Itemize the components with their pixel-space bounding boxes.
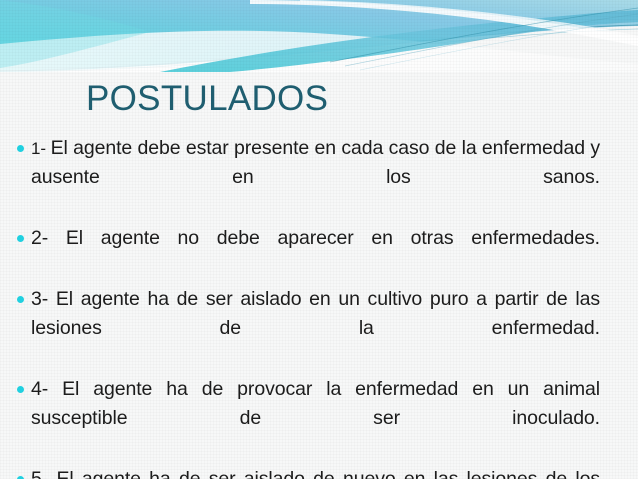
bullet-dot-icon xyxy=(17,235,24,242)
bullet-number: 3- xyxy=(31,288,56,310)
presentation-slide: POSTULADOS 1- El agente debe estar prese… xyxy=(0,0,638,479)
bullet-dot-icon xyxy=(17,386,24,393)
bullet-dot-icon xyxy=(17,145,24,152)
flow-swoosh-graphic xyxy=(0,0,638,72)
slide-title: POSTULADOS xyxy=(86,79,328,119)
bullet-text: El agente ha de provocar la enfermedad e… xyxy=(31,378,600,429)
slide-bullet-list: 1- El agente debe estar presente en cada… xyxy=(0,134,638,479)
bullet-text: El agente debe estar presente en cada ca… xyxy=(31,137,600,188)
bullet-number: 1- xyxy=(31,139,51,158)
bullet-item: 4- El agente ha de provocar la enfermeda… xyxy=(0,375,638,462)
bullet-number: 5- xyxy=(31,468,56,479)
bullet-item: 5- El agente ha de ser aislado de nuevo … xyxy=(0,465,638,479)
bullet-item: 1- El agente debe estar presente en cada… xyxy=(0,134,638,221)
bullet-number: 2- xyxy=(31,227,66,249)
bullet-item: 2- El agente no debe aparecer en otras e… xyxy=(0,224,638,282)
bullet-item: 3- El agente ha de ser aislado en un cul… xyxy=(0,285,638,372)
bullet-text: El agente ha de ser aislado de nuevo en … xyxy=(31,468,600,479)
bullet-number: 4- xyxy=(31,378,62,400)
bullet-dot-icon xyxy=(17,296,24,303)
bullet-text: El agente ha de ser aislado en un cultiv… xyxy=(31,288,600,339)
slide-header-decoration xyxy=(0,0,638,72)
bullet-text: El agente no debe aparecer en otras enfe… xyxy=(66,227,600,249)
